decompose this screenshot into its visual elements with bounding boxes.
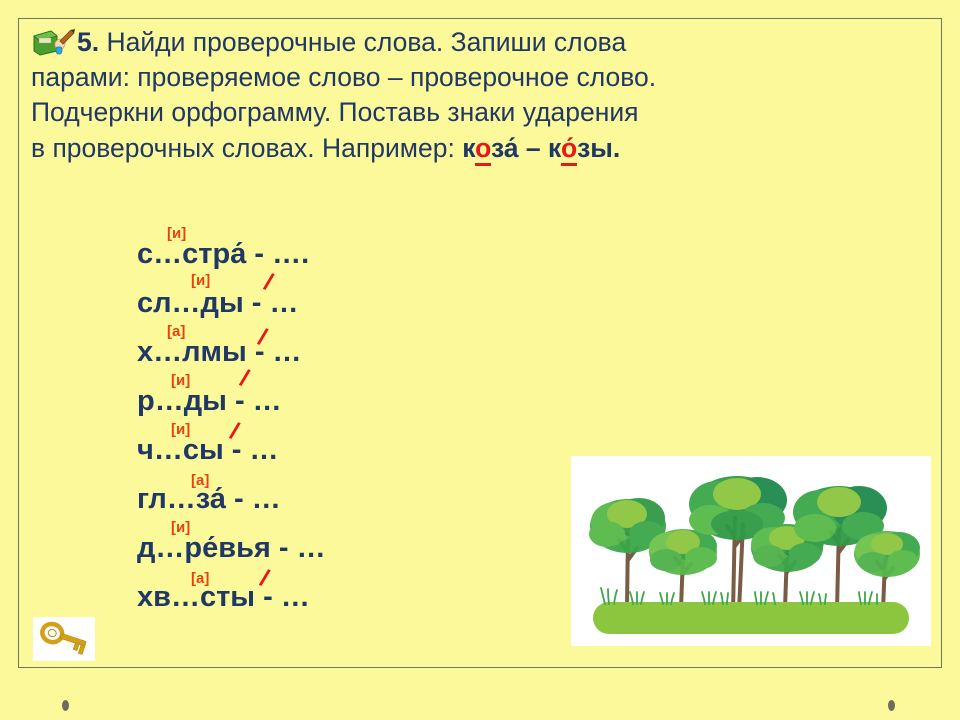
slide-frame: 5. Найди проверочные слова. Запиши слова… [18, 18, 942, 668]
book-pen-icon [31, 27, 75, 57]
page-dot-right [888, 700, 895, 711]
word-row[interactable]: [а] / х…лмы - … [119, 322, 549, 371]
word-row[interactable]: [а] гл…за́ - … [119, 469, 549, 518]
word-row[interactable]: [и] / ч…сы - … [119, 420, 549, 469]
task-header-text-4: в проверочных словах. Например: [31, 133, 462, 163]
task-header-text-1: Найди проверочные слова. Запиши слова [106, 27, 626, 57]
task-header-line-4: в проверочных словах. Например: коза́ – … [31, 131, 927, 166]
word-text: ч…сы - … [137, 434, 279, 467]
word-text: х…лмы - … [137, 336, 302, 369]
example-word1-suffix: за́ [491, 133, 519, 163]
word-exercise-list: [и] с…стра́ - …. [и] / сл…ды - … [а] / х… [119, 224, 549, 616]
word-text: гл…за́ - … [137, 483, 281, 516]
slide-page: 5. Найди проверочные слова. Запиши слова… [0, 0, 960, 720]
task-header-line-2: парами: проверяемое слово – проверочное … [31, 60, 927, 95]
word-row[interactable]: [и] с…стра́ - …. [119, 224, 549, 273]
vowel-hint: [и] [191, 273, 210, 288]
word-text: р…ды - … [137, 385, 282, 418]
page-dot-left [62, 700, 69, 711]
example-word2-prefix: к [548, 133, 561, 163]
task-instruction-block: 5. Найди проверочные слова. Запиши слова… [31, 25, 927, 166]
task-header-line-3: Подчеркни орфограмму. Поставь знаки удар… [31, 95, 927, 130]
word-row[interactable]: [и] / р…ды - … [119, 371, 549, 420]
example-dash: – [519, 133, 548, 163]
task-number: 5. [77, 27, 99, 57]
trees-illustration [571, 456, 931, 646]
word-row[interactable]: [и] / сл…ды - … [119, 273, 549, 322]
word-text: сл…ды - … [137, 287, 299, 320]
word-row[interactable]: [а] / хв…сты - … [119, 567, 549, 616]
word-text: с…стра́ - …. [137, 238, 309, 271]
word-text: хв…сты - … [137, 581, 310, 614]
key-icon[interactable] [33, 617, 95, 661]
example-word-pair: коза́ – ко́зы. [462, 133, 620, 166]
example-word2-stressed-letter: о́ [561, 133, 577, 166]
task-header-line-1: 5. Найди проверочные слова. Запиши слова [31, 25, 927, 60]
word-text: д…ре́вья - … [137, 532, 326, 565]
example-word2-suffix: зы. [577, 133, 620, 163]
word-row[interactable]: [и] д…ре́вья - … [119, 518, 549, 567]
example-word1-stressed-letter: о [475, 133, 491, 166]
example-word1-prefix: к [462, 133, 475, 163]
